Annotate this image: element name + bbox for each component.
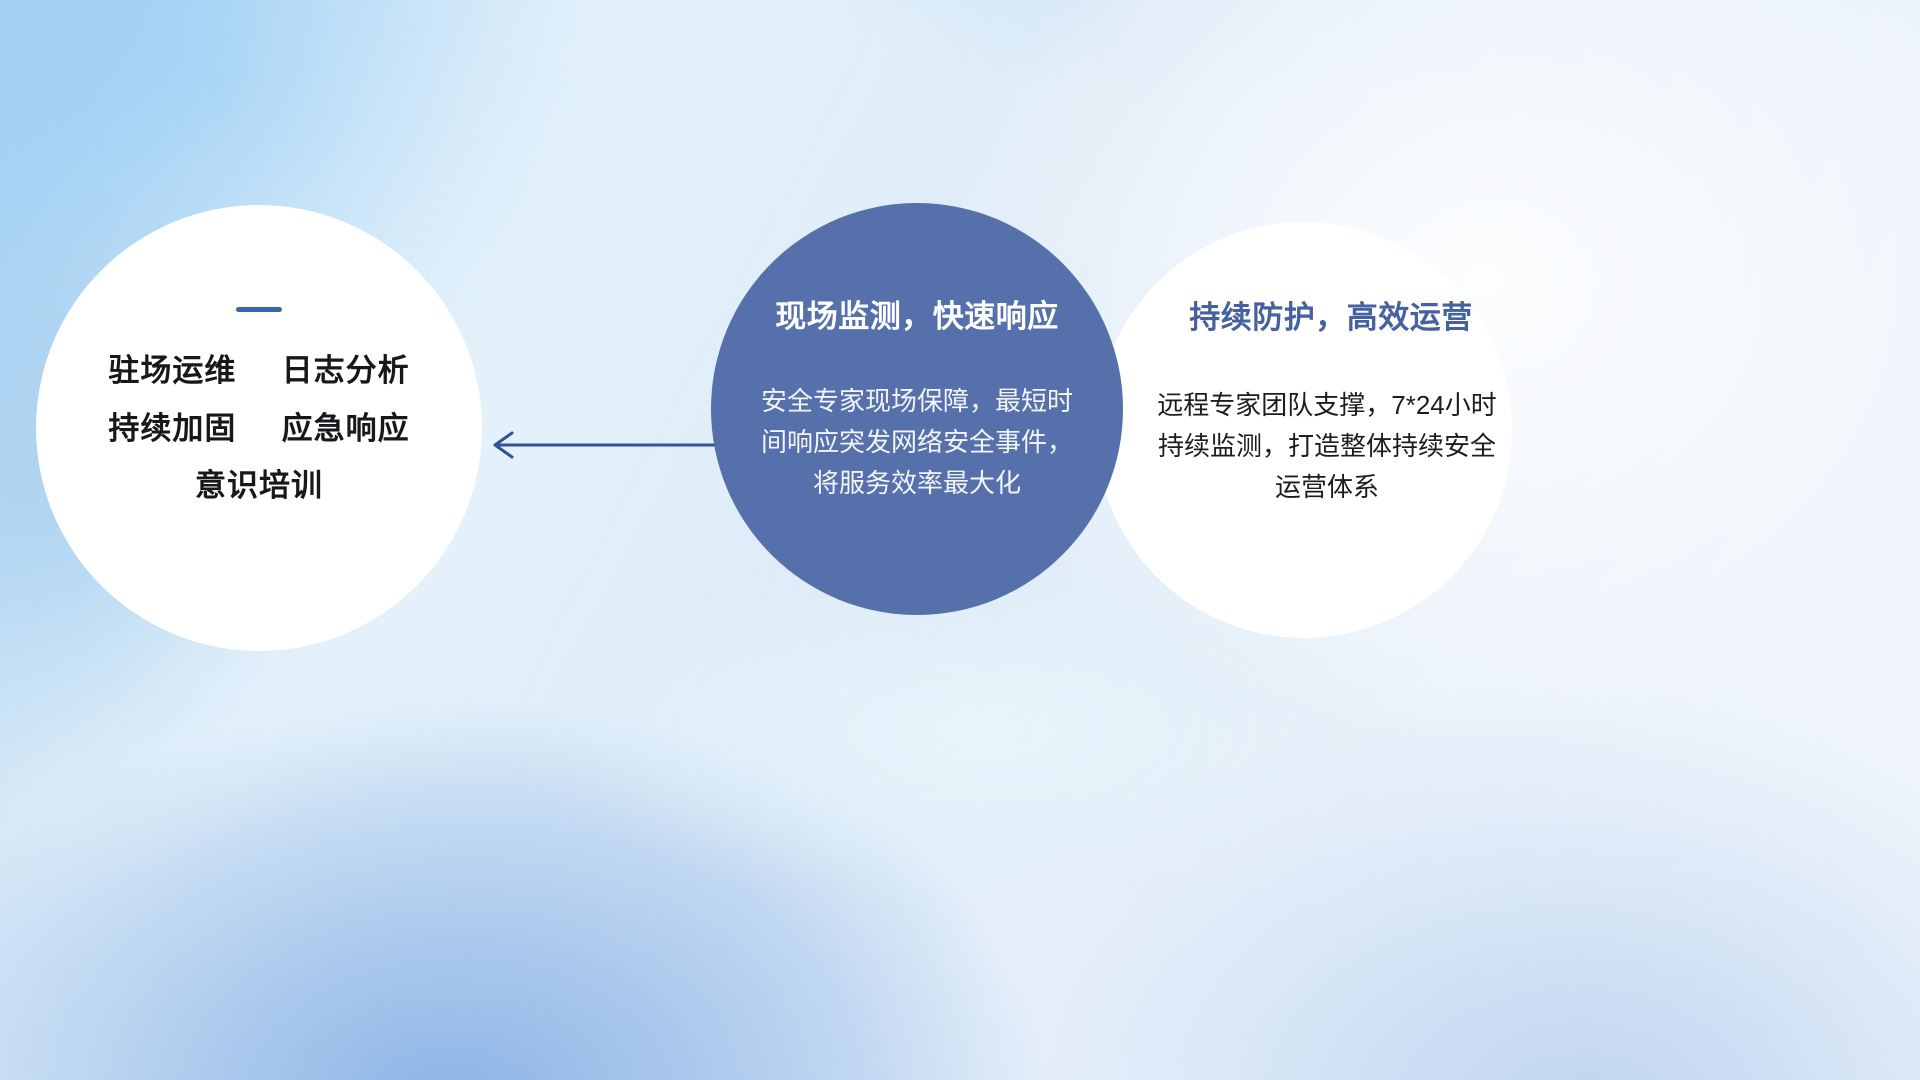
capability-row-3: 意识培训 [108, 470, 409, 503]
capability-item-continuous-hardening: 持续加固 [108, 411, 236, 446]
capability-list: 驻场运维 日志分析 持续加固 应急响应 意识培训 [108, 355, 409, 503]
capability-row-1: 驻场运维 日志分析 [108, 355, 409, 388]
capability-circle-middle[interactable]: 现场监测，快速响应 安全专家现场保障，最短时间响应突发网络安全事件，将服务效率最… [711, 203, 1123, 615]
middle-circle-title: 现场监测，快速响应 [775, 291, 1059, 336]
right-circle-body: 远程专家团队支撑，7*24小时持续监测，打造整体持续安全运营体系 [1153, 385, 1501, 508]
horizontal-dash-icon [236, 307, 282, 312]
capability-item-log-analysis: 日志分析 [282, 353, 410, 388]
capability-item-emergency-response: 应急响应 [282, 411, 410, 446]
capability-row-2: 持续加固 应急响应 [108, 413, 409, 446]
capability-item-onsite-ops: 驻场运维 [108, 353, 236, 388]
capability-item-awareness-training: 意识培训 [195, 468, 323, 503]
capability-circle-right[interactable]: 持续防护，高效运营 远程专家团队支撑，7*24小时持续监测，打造整体持续安全运营… [1096, 222, 1512, 638]
slide-canvas: 驻场运维 日志分析 持续加固 应急响应 意识培训 持续防护，高效运营 远程专家团… [0, 0, 1920, 1080]
middle-circle-body: 安全专家现场保障，最短时间响应突发网络安全事件，将服务效率最大化 [761, 381, 1073, 504]
capability-circle-left[interactable]: 驻场运维 日志分析 持续加固 应急响应 意识培训 [36, 205, 482, 651]
right-circle-title: 持续防护，高效运营 [1189, 292, 1473, 337]
